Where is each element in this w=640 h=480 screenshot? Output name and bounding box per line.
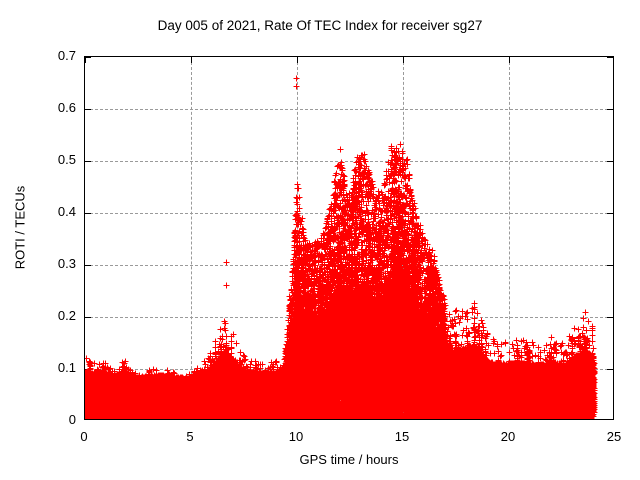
x-tick-label: 0 xyxy=(59,429,109,444)
y-tick-label: 0.1 xyxy=(6,360,76,375)
y-tick-label: 0.2 xyxy=(6,308,76,323)
scatter-points xyxy=(85,57,613,419)
chart-title: Day 005 of 2021, Rate Of TEC Index for r… xyxy=(0,18,640,33)
chart-root: Day 005 of 2021, Rate Of TEC Index for r… xyxy=(0,0,640,480)
x-tick-label: 25 xyxy=(589,429,639,444)
x-tick-label: 15 xyxy=(377,429,427,444)
y-tick-label: 0 xyxy=(6,412,76,427)
y-tick-label: 0.6 xyxy=(6,100,76,115)
y-tick-label: 0.7 xyxy=(6,48,76,63)
x-tick-label: 20 xyxy=(483,429,533,444)
scatter-data-layer xyxy=(85,57,613,419)
x-tick-label: 10 xyxy=(271,429,321,444)
x-tick-label: 5 xyxy=(165,429,215,444)
plot-frame xyxy=(84,56,614,420)
x-axis-label: GPS time / hours xyxy=(84,452,614,467)
y-axis-label: ROTI / TECUs xyxy=(13,148,28,308)
